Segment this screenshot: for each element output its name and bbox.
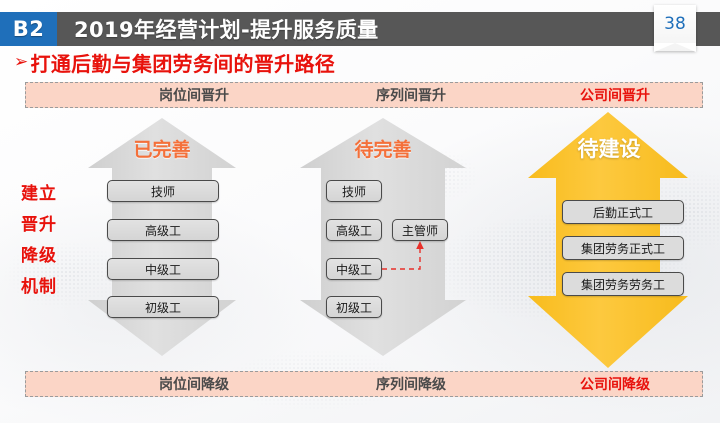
supervisor-box[interactable]: 主管师 bbox=[392, 219, 448, 241]
section-tag-label: B2 bbox=[13, 17, 45, 41]
grade-box-1-3[interactable]: 中级工 bbox=[107, 258, 219, 280]
column-sequence: 待完善 技师 高级工 中级工 初级工 主管师 bbox=[300, 0, 510, 423]
side-word-1: 建立 bbox=[8, 186, 70, 203]
column-company: 待建设 后勤正式工 集团劳务正式工 集团劳务劳务工 bbox=[520, 0, 705, 423]
arrow-bullet-icon: ➢ bbox=[14, 52, 29, 72]
worker-type-box-2[interactable]: 集团劳务正式工 bbox=[562, 236, 684, 260]
grade-box-2-3[interactable]: 中级工 bbox=[326, 258, 382, 280]
double-arrow-shape-gray-1 bbox=[88, 0, 288, 423]
side-words-group: 建立 晋升 降级 机制 bbox=[8, 186, 70, 296]
double-arrow-shape-gray-2 bbox=[300, 0, 510, 423]
grade-box-1-2[interactable]: 高级工 bbox=[107, 219, 219, 241]
grade-box-2-2[interactable]: 高级工 bbox=[326, 219, 382, 241]
section-tag-badge: B2 bbox=[0, 12, 57, 46]
grade-box-2-4[interactable]: 初级工 bbox=[326, 296, 382, 318]
status-label-2: 待完善 bbox=[331, 135, 435, 162]
status-label-3: 待建设 bbox=[553, 133, 665, 163]
side-word-4: 机制 bbox=[8, 279, 70, 296]
slide-canvas: B2 2019年经营计划-提升服务质量 38 ➢ 打通后勤与集团劳务间的晋升路径… bbox=[0, 0, 720, 423]
status-label-1: 已完善 bbox=[110, 135, 214, 162]
side-word-3: 降级 bbox=[8, 248, 70, 265]
grade-box-2-1[interactable]: 技师 bbox=[326, 180, 382, 202]
grade-box-1-1[interactable]: 技师 bbox=[107, 180, 219, 202]
worker-type-box-1[interactable]: 后勤正式工 bbox=[562, 200, 684, 224]
side-word-2: 晋升 bbox=[8, 217, 70, 234]
worker-type-box-3[interactable]: 集团劳务劳务工 bbox=[562, 272, 684, 296]
grade-box-1-4[interactable]: 初级工 bbox=[107, 296, 219, 318]
column-job-grade: 已完善 技师 高级工 中级工 初级工 bbox=[88, 0, 288, 423]
